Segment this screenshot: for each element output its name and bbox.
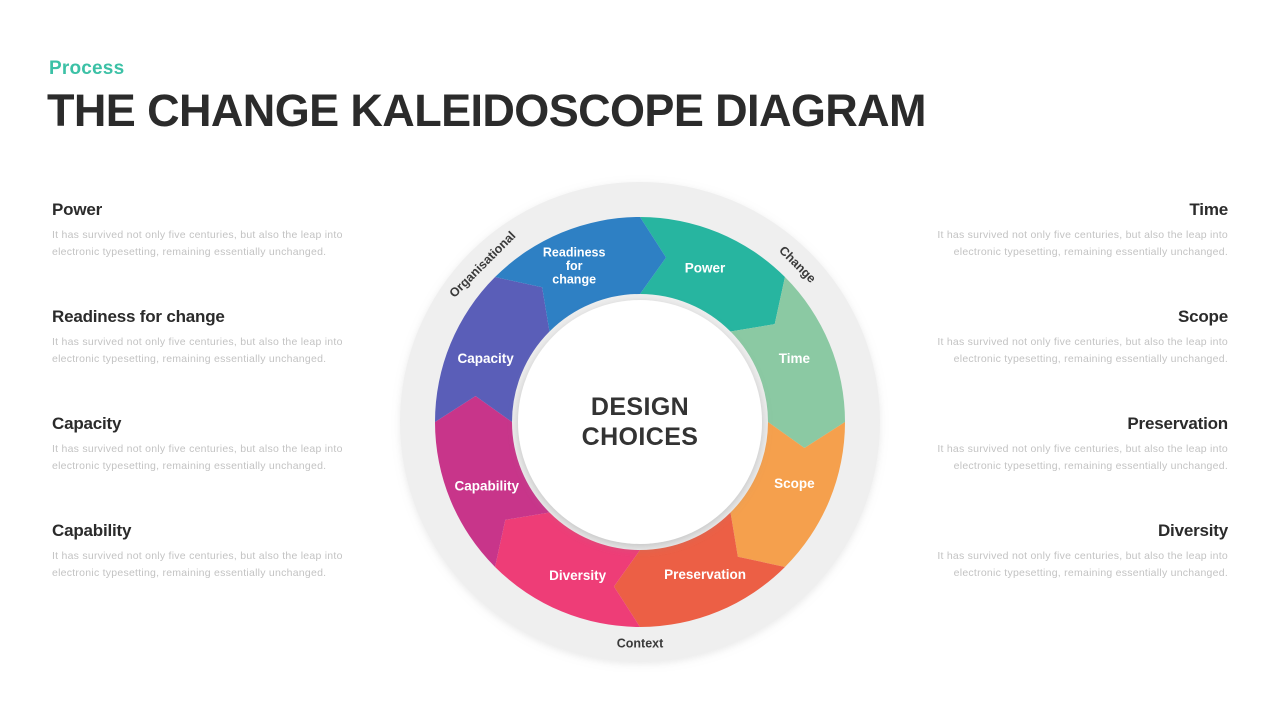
info-block-body: It has survived not only five centuries,…: [52, 334, 352, 367]
info-block-capacity: CapacityIt has survived not only five ce…: [52, 414, 352, 474]
right-text-column: TimeIt has survived not only five centur…: [928, 200, 1228, 581]
info-block-title: Scope: [928, 307, 1228, 327]
segment-label-diversity: Diversity: [549, 568, 607, 583]
info-block-body: It has survived not only five centuries,…: [928, 441, 1228, 474]
info-block-title: Time: [928, 200, 1228, 220]
info-block-body: It has survived not only five centuries,…: [928, 548, 1228, 581]
info-block-scope: ScopeIt has survived not only five centu…: [928, 307, 1228, 367]
info-block-title: Preservation: [928, 414, 1228, 434]
segment-label-power: Power: [685, 260, 726, 275]
info-block-body: It has survived not only five centuries,…: [52, 441, 352, 474]
segment-label-capacity: Capacity: [457, 351, 514, 366]
info-block-title: Capability: [52, 521, 352, 541]
segment-label-readiness-for-change: for: [566, 259, 583, 273]
info-block-time: TimeIt has survived not only five centur…: [928, 200, 1228, 260]
segment-label-time: Time: [779, 351, 811, 366]
info-block-body: It has survived not only five centuries,…: [928, 227, 1228, 260]
segment-label-preservation: Preservation: [664, 567, 746, 582]
info-block-body: It has survived not only five centuries,…: [52, 548, 352, 581]
page-title: THE CHANGE KALEIDOSCOPE DIAGRAM: [47, 85, 926, 137]
info-block-readiness-for-change: Readiness for changeIt has survived not …: [52, 307, 352, 367]
change-kaleidoscope-donut-chart: PowerTimeScopePreservationDiversityCapab…: [390, 172, 890, 672]
slide-kicker: Process: [49, 58, 124, 80]
segment-label-readiness-for-change: change: [552, 273, 596, 287]
info-block-title: Readiness for change: [52, 307, 352, 327]
left-text-column: PowerIt has survived not only five centu…: [52, 200, 352, 581]
info-block-body: It has survived not only five centuries,…: [928, 334, 1228, 367]
info-block-power: PowerIt has survived not only five centu…: [52, 200, 352, 260]
info-block-title: Diversity: [928, 521, 1228, 541]
info-block-body: It has survived not only five centuries,…: [52, 227, 352, 260]
center-label-line2: CHOICES: [582, 423, 699, 451]
info-block-title: Power: [52, 200, 352, 220]
inner-hub-circle: [518, 300, 762, 544]
slide-canvas: Process THE CHANGE KALEIDOSCOPE DIAGRAM …: [0, 0, 1280, 720]
info-block-capability: CapabilityIt has survived not only five …: [52, 521, 352, 581]
info-block-title: Capacity: [52, 414, 352, 434]
segment-label-capability: Capability: [454, 479, 519, 494]
segment-label-scope: Scope: [774, 476, 815, 491]
segment-label-readiness-for-change: Readiness: [543, 246, 606, 260]
info-block-diversity: DiversityIt has survived not only five c…: [928, 521, 1228, 581]
outer-label-context: Context: [617, 636, 664, 650]
center-label-line1: DESIGN: [591, 393, 689, 421]
info-block-preservation: PreservationIt has survived not only fiv…: [928, 414, 1228, 474]
